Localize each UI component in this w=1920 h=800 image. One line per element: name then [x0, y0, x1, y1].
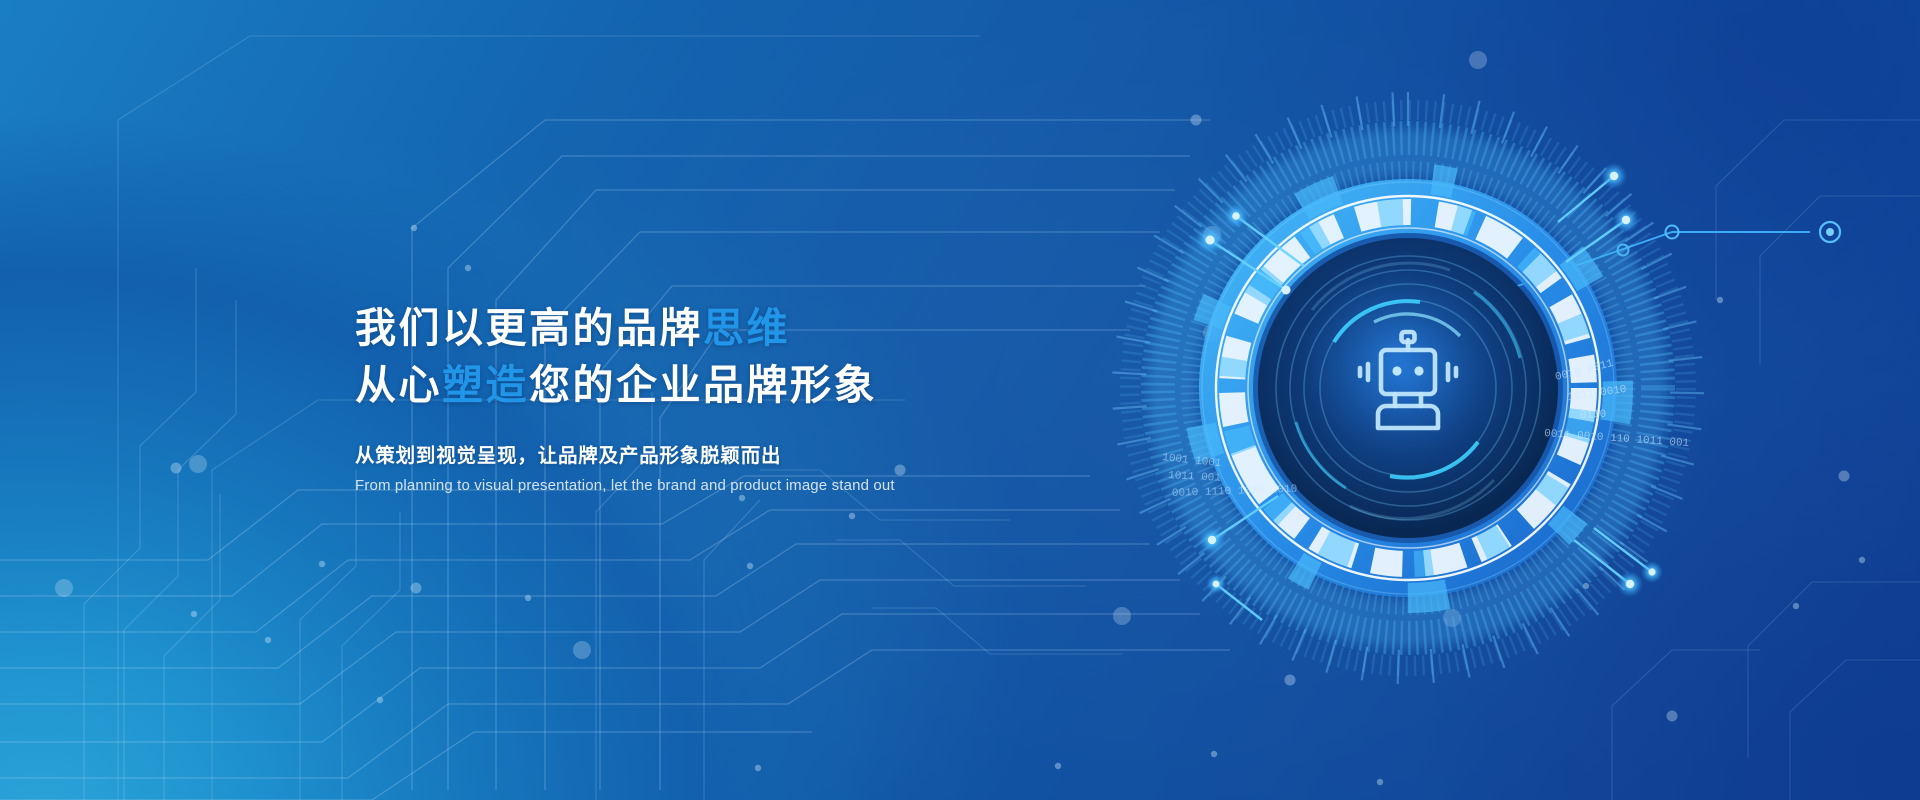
subtitle-chinese: 从策划到视觉呈现，让品牌及产品形象脱颖而出: [355, 439, 1175, 468]
headline-line-1: 我们以更高的品牌思维: [355, 300, 1175, 357]
headline-line1-accent: 思维: [703, 305, 790, 351]
hero-banner: 0010 0011 1011 0010 0110 0011 0010 110 1…: [0, 0, 1920, 800]
headline-line2-suffix: 您的企业品牌形象: [529, 362, 877, 408]
headline-line-2: 从心塑造您的企业品牌形象: [355, 357, 1175, 414]
svg-text:0110: 0110: [1580, 409, 1607, 422]
subtitle-english: From planning to visual presentation, le…: [355, 477, 1175, 494]
headline-line2-prefix: 从心: [355, 362, 442, 408]
hero-copy-block: 我们以更高的品牌思维 从心塑造您的企业品牌形象 从策划到视觉呈现，让品牌及产品形…: [355, 300, 1175, 494]
headline-line2-accent: 塑造: [442, 362, 529, 408]
robot-hud-graphic: 0010 0011 1011 0010 0110 0011 0010 110 1…: [1098, 78, 1718, 698]
headline-line1-text: 我们以更高的品牌: [355, 305, 703, 351]
